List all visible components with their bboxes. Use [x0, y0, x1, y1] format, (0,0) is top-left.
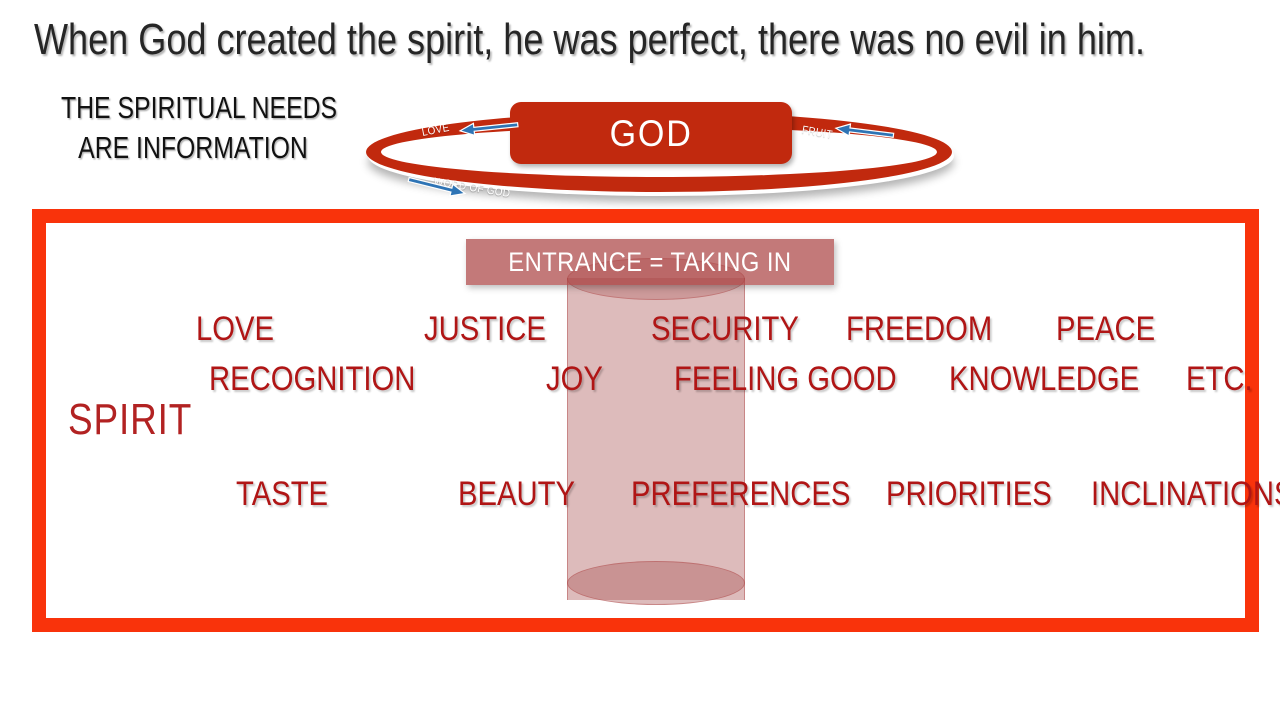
- word-item: JOY: [546, 359, 603, 399]
- word-item: INCLINATIONS: [1091, 474, 1280, 514]
- word-item: FEELING GOOD: [674, 359, 897, 399]
- god-cycle-diagram: GOD LOVE WORD OF GOD FRUIT: [352, 92, 962, 207]
- spirit-label: SPIRIT: [68, 396, 192, 444]
- subtitle-line-1: THE SPIRITUAL NEEDS: [61, 88, 325, 128]
- word-item: BEAUTY: [458, 474, 575, 514]
- word-item: RECOGNITION: [209, 359, 415, 399]
- entrance-banner: ENTRANCE = TAKING IN: [466, 239, 834, 285]
- cylinder-bottom-ellipse: [567, 561, 745, 605]
- word-item: SECURITY: [651, 309, 799, 349]
- word-item: PEACE: [1056, 309, 1155, 349]
- word-item: PRIORITIES: [886, 474, 1052, 514]
- word-item: KNOWLEDGE: [949, 359, 1139, 399]
- word-item: FREEDOM: [846, 309, 992, 349]
- god-box: GOD: [510, 102, 792, 164]
- slide-canvas: When God created the spirit, he was perf…: [0, 0, 1280, 720]
- subtitle-block: THE SPIRITUAL NEEDS ARE INFORMATION: [61, 88, 325, 168]
- word-item: ETC.: [1186, 359, 1253, 399]
- god-label: GOD: [609, 115, 692, 152]
- word-item: PREFERENCES: [631, 474, 850, 514]
- subtitle-line-2: ARE INFORMATION: [61, 128, 325, 168]
- page-title: When God created the spirit, he was perf…: [34, 14, 1051, 66]
- entrance-banner-label: ENTRANCE = TAKING IN: [508, 247, 791, 278]
- word-item: TASTE: [236, 474, 328, 514]
- word-item: LOVE: [196, 309, 274, 349]
- word-item: JUSTICE: [424, 309, 546, 349]
